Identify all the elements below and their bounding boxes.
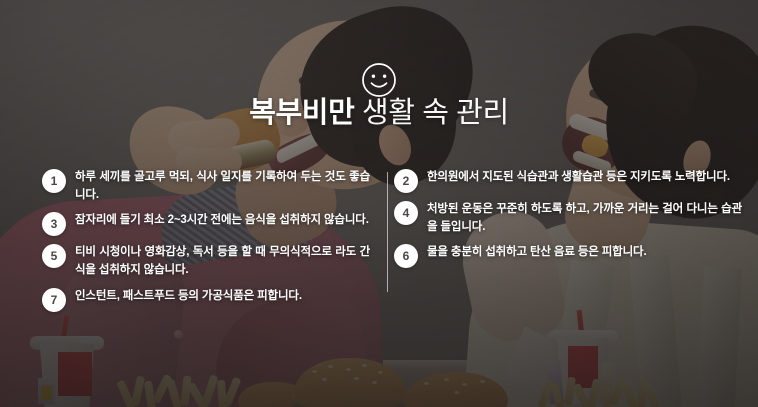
list-item: 3 잠자리에 들기 최소 2~3시간 전에는 음식을 섭취하지 않습니다.: [42, 211, 370, 236]
tips-column-right: 2 한의원에서 지도된 식습관과 생활습관 등은 지키도록 노력합니다. 4 처…: [388, 168, 758, 319]
list-item: 5 티비 시청이나 영화감상, 독서 등을 할 때 무의식적으로 라도 간식을 …: [42, 243, 370, 279]
status-badge: 5: [42, 244, 66, 268]
status-badge: 4: [394, 201, 418, 225]
list-item: 4 처방된 운동은 꾸준히 하도록 하고, 가까운 거리는 걸어 다니는 습관을…: [394, 200, 742, 236]
smiley-face-icon: [361, 62, 397, 98]
list-item-text: 처방된 운동은 꾸준히 하도록 하고, 가까운 거리는 걸어 다니는 습관을 들…: [427, 200, 742, 236]
list-item-text: 하루 세끼를 골고루 먹되, 식사 일지를 기록하여 두는 것도 좋습니다.: [75, 168, 370, 204]
tips-columns: 1 하루 세끼를 골고루 먹되, 식사 일지를 기록하여 두는 것도 좋습니다.…: [0, 168, 758, 319]
list-item: 2 한의원에서 지도된 식습관과 생활습관 등은 지키도록 노력합니다.: [394, 168, 742, 193]
obesity-lifestyle-banner: 복부비만 생활 속 관리 1 하루 세끼를 골고루 먹되, 식사 일지를 기록하…: [0, 0, 758, 407]
status-badge: 2: [394, 169, 418, 193]
list-item-text: 물을 충분히 섭취하고 탄산 음료 등은 피합니다.: [427, 243, 646, 261]
status-badge: 1: [42, 169, 66, 193]
page-title: 복부비만 생활 속 관리: [0, 96, 758, 130]
list-item: 1 하루 세끼를 골고루 먹되, 식사 일지를 기록하여 두는 것도 좋습니다.: [42, 168, 370, 204]
status-badge: 7: [42, 288, 66, 312]
list-item-text: 한의원에서 지도된 식습관과 생활습관 등은 지키도록 노력합니다.: [427, 168, 730, 186]
list-item: 6 물을 충분히 섭취하고 탄산 음료 등은 피합니다.: [394, 243, 742, 268]
page-title-strong: 복부비만: [249, 97, 354, 129]
list-item-text: 인스턴트, 패스트푸드 등의 가공식품은 피합니다.: [75, 287, 302, 305]
banner-content: 복부비만 생활 속 관리 1 하루 세끼를 골고루 먹되, 식사 일지를 기록하…: [0, 0, 758, 407]
page-title-light: 생활 속 관리: [354, 97, 508, 129]
list-item-text: 잠자리에 들기 최소 2~3시간 전에는 음식을 섭취하지 않습니다.: [75, 211, 369, 229]
status-badge: 6: [394, 244, 418, 268]
list-item: 7 인스턴트, 패스트푸드 등의 가공식품은 피합니다.: [42, 287, 370, 312]
status-badge: 3: [42, 212, 66, 236]
list-item-text: 티비 시청이나 영화감상, 독서 등을 할 때 무의식적으로 라도 간식을 섭취…: [75, 243, 370, 279]
tips-column-left: 1 하루 세끼를 골고루 먹되, 식사 일지를 기록하여 두는 것도 좋습니다.…: [0, 168, 388, 319]
